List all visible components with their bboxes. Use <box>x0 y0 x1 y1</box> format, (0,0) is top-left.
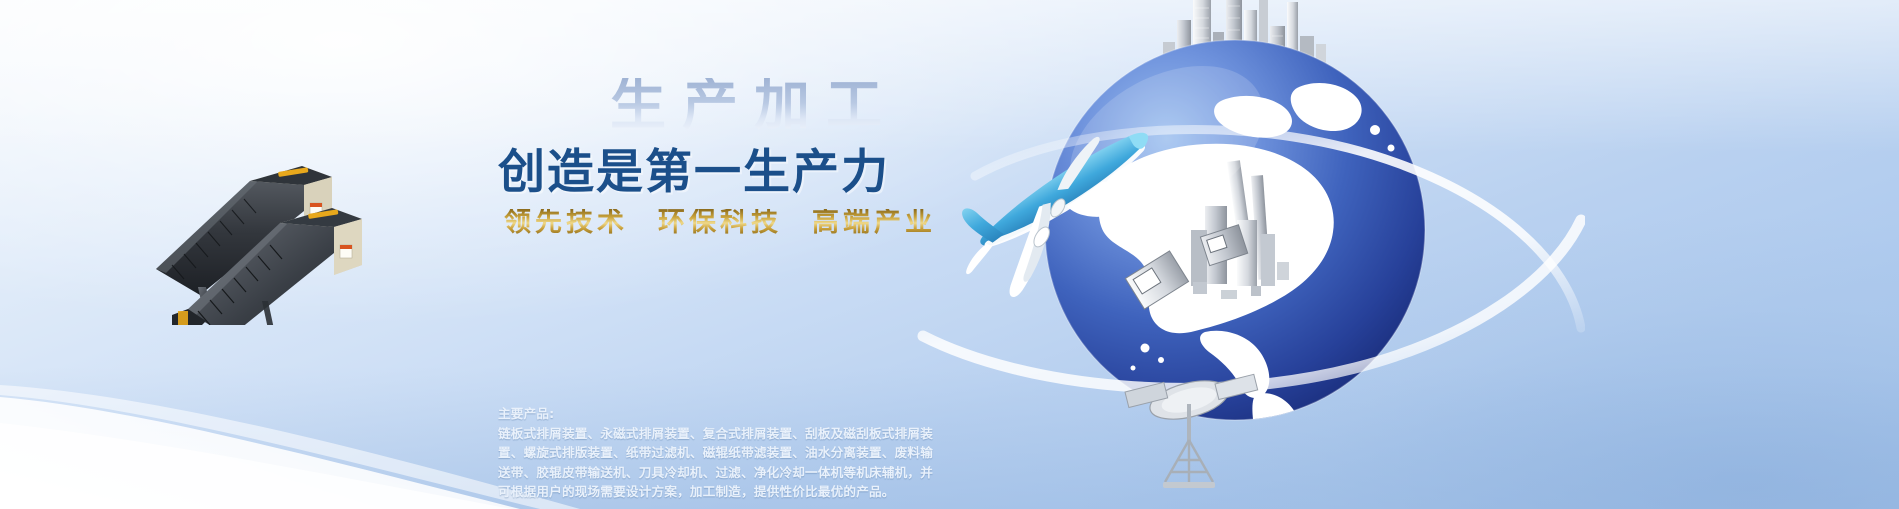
satellite-icon <box>1125 374 1258 488</box>
product-description: 主要产品: 链板式排屑装置、永磁式排屑装置、复合式排屑装置、刮板及磁刮板式排屑装… <box>498 404 943 502</box>
tagline-item-2: 环保科技 <box>658 207 782 238</box>
page-title: 生产加工 <box>610 78 968 134</box>
headline-subtitle: 创造是第一生产力 <box>498 148 968 197</box>
tagline-item-1: 领先技术 <box>504 207 628 238</box>
headline-block: 生产加工 创造是第一生产力 领先技术环保科技高端产业 <box>498 78 968 236</box>
product-description-title: 主要产品: <box>498 404 943 424</box>
product-description-body: 链板式排屑装置、永磁式排屑装置、复合式排屑装置、刮板及磁刮板式排屑装置、螺旋式排… <box>498 424 943 502</box>
tagline-row: 领先技术环保科技高端产业 <box>504 209 968 236</box>
globe-cluster-icon <box>905 0 1585 509</box>
tagline-item-3: 高端产业 <box>812 207 936 238</box>
chip-conveyor-machines-icon <box>150 125 490 325</box>
promo-banner: 生产加工 创造是第一生产力 领先技术环保科技高端产业 主要产品: 链板式排屑装置… <box>0 0 1899 509</box>
